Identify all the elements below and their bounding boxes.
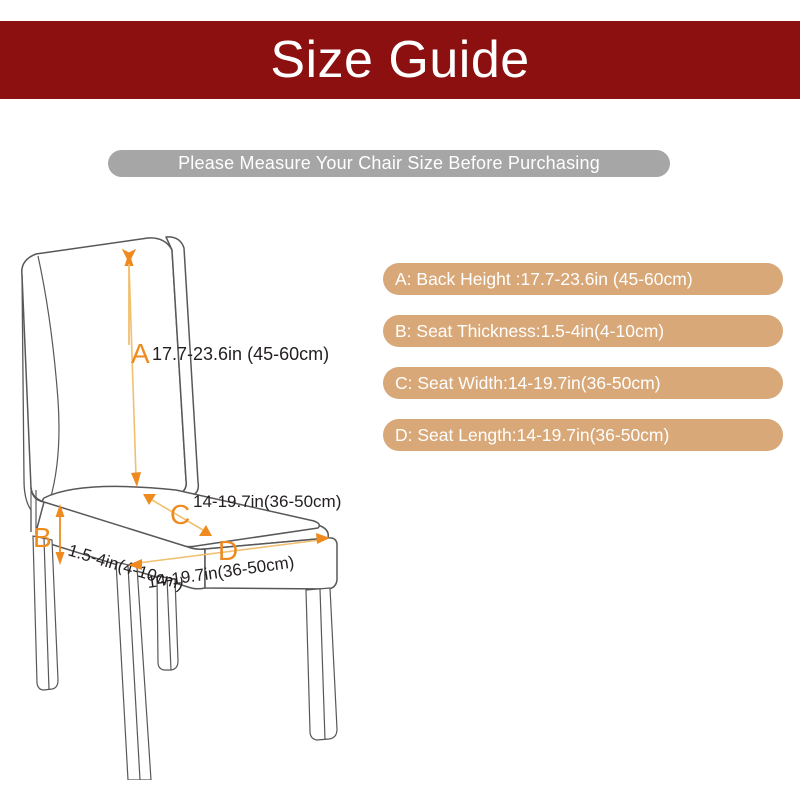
legend-item-b-label: B: Seat Thickness:1.5-4in(4-10cm) [395, 321, 664, 342]
legend-item-d: D: Seat Length:14-19.7in(36-50cm) [383, 419, 783, 451]
legend-item-c: C: Seat Width:14-19.7in(36-50cm) [383, 367, 783, 399]
chair-backrest [22, 237, 199, 502]
annotation-a-letter: A [131, 338, 150, 369]
legend-list: A: Back Height :17.7-23.6in (45-60cm) B:… [383, 263, 783, 451]
legend-item-d-label: D: Seat Length:14-19.7in(36-50cm) [395, 425, 669, 446]
legend-item-a-label: A: Back Height :17.7-23.6in (45-60cm) [395, 269, 693, 290]
title-banner: Size Guide [0, 21, 800, 99]
legend-item-a: A: Back Height :17.7-23.6in (45-60cm) [383, 263, 783, 295]
annotation-c-letter: C [170, 499, 190, 530]
subtitle-text: Please Measure Your Chair Size Before Pu… [178, 153, 600, 174]
subtitle-pill: Please Measure Your Chair Size Before Pu… [108, 150, 670, 177]
annotation-a-measure: 17.7-23.6in (45-60cm) [152, 344, 329, 364]
annotation-c-measure: 14-19.7in(36-50cm) [193, 492, 341, 511]
annotation-b-letter: B [33, 522, 52, 553]
legend-item-c-label: C: Seat Width:14-19.7in(36-50cm) [395, 373, 661, 394]
page-title: Size Guide [270, 34, 529, 86]
legend-item-b: B: Seat Thickness:1.5-4in(4-10cm) [383, 315, 783, 347]
chair-diagram: A 17.7-23.6in (45-60cm) B 1.5-4in(4-10cm… [0, 180, 420, 780]
